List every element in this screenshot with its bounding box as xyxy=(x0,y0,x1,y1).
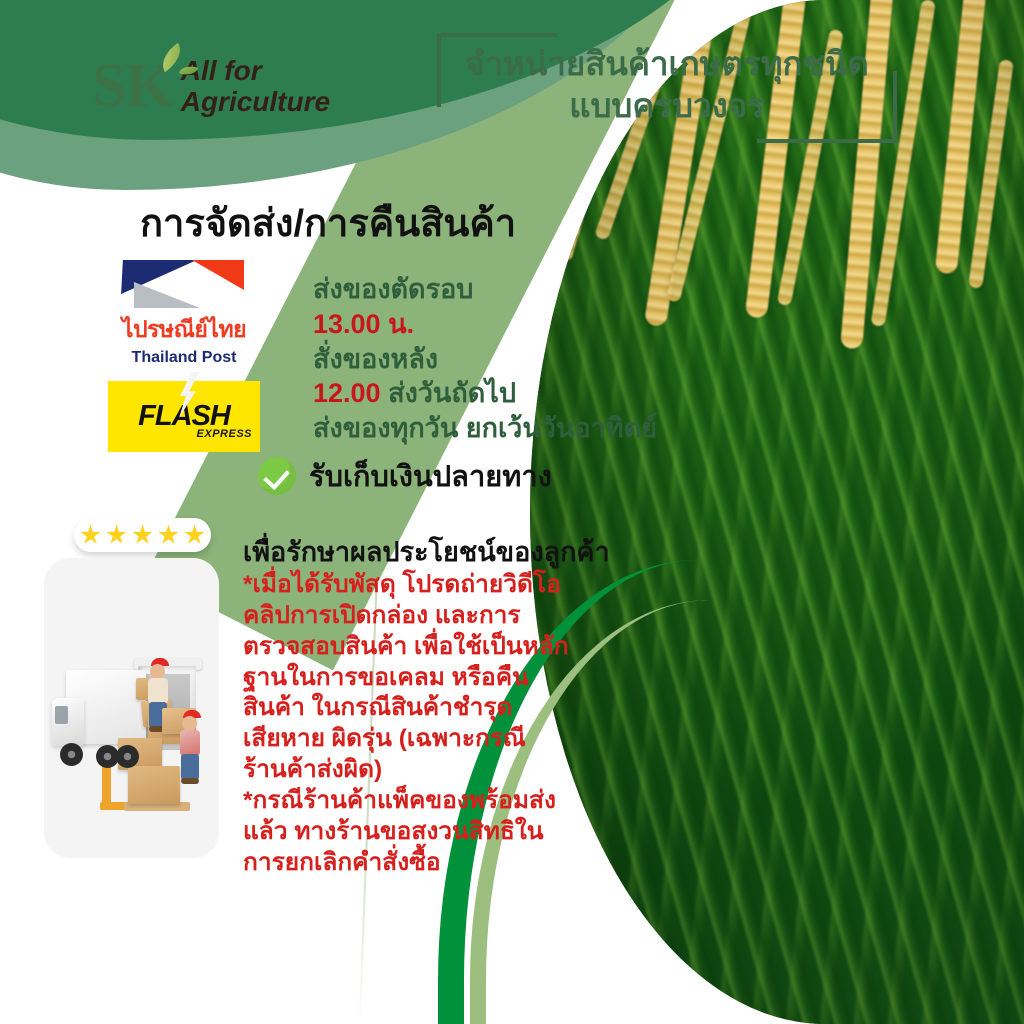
page-title: การจัดส่ง/การคืนสินค้า xyxy=(140,192,516,253)
shipping-next-day-label: ส่งวันถัดไป xyxy=(388,378,516,408)
flash-express-logo: FLASH EXPRESS xyxy=(108,381,260,452)
thailand-post-logo: ไปรษณีย์ไทย Thailand Post xyxy=(108,258,260,367)
bracket-bottom-right-h xyxy=(757,139,897,143)
shipping-line-1: ส่งของตัดรอบ xyxy=(313,272,657,307)
flash-express-sub: EXPRESS xyxy=(197,428,252,440)
header-banner: จำหน่ายสินค้าเกษตรทุกชนิด แบบครบวงจร xyxy=(437,33,897,143)
poster-canvas: SK All for Agriculture จำหน่ายสินค้าเกษต… xyxy=(0,0,1024,1024)
bracket-top-left-v xyxy=(437,33,441,107)
shipping-line-4: 12.00 ส่งวันถัดไป xyxy=(313,376,657,411)
shipping-info: ส่งของตัดรอบ 13.00 น. สั่งของหลัง 12.00 … xyxy=(313,272,657,446)
shipping-cutoff-time: 13.00 น. xyxy=(313,307,657,342)
star-icon xyxy=(80,525,101,546)
thailand-post-name-th: ไปรษณีย์ไทย xyxy=(108,312,260,348)
brand-mark-text: SK xyxy=(92,52,173,120)
header-banner-text: จำหน่ายสินค้าเกษตรทุกชนิด แบบครบวงจร xyxy=(455,43,879,126)
bracket-bottom-right-v xyxy=(893,71,897,143)
thailand-post-chevron-icon xyxy=(114,258,254,314)
cod-row: รับเก็บเงินปลายทาง xyxy=(258,453,552,499)
rating-badge xyxy=(74,518,211,552)
policy-body: *เมื่อได้รับพัสดุ โปรดถ่ายวิดีโอ คลิปการ… xyxy=(243,570,583,879)
shipping-next-day-time: 12.00 xyxy=(313,378,381,408)
bracket-top-left-h xyxy=(437,33,557,37)
star-icon xyxy=(106,525,127,546)
brand-tagline: All for Agriculture xyxy=(181,55,330,118)
star-icon xyxy=(158,525,179,546)
brand-logo: SK All for Agriculture xyxy=(92,55,330,118)
thailand-post-name-en: Thailand Post xyxy=(108,349,260,367)
shipping-line-5: ส่งของทุกวัน ยกเว้นวันอาทิตย์ xyxy=(313,411,657,446)
policy-heading: เพื่อรักษาผลประโยชน์ของลูกค้า xyxy=(243,530,610,573)
brand-mark-sk: SK xyxy=(92,55,173,117)
star-icon xyxy=(184,525,205,546)
star-icon xyxy=(132,525,153,546)
courier-logos: ไปรษณีย์ไทย Thailand Post FLASH EXPRESS xyxy=(108,258,278,452)
delivery-truck-illustration xyxy=(44,558,219,858)
check-circle-icon xyxy=(258,457,296,495)
cod-label: รับเก็บเงินปลายทาง xyxy=(309,453,552,499)
shipping-line-3: สั่งของหลัง xyxy=(313,342,657,377)
